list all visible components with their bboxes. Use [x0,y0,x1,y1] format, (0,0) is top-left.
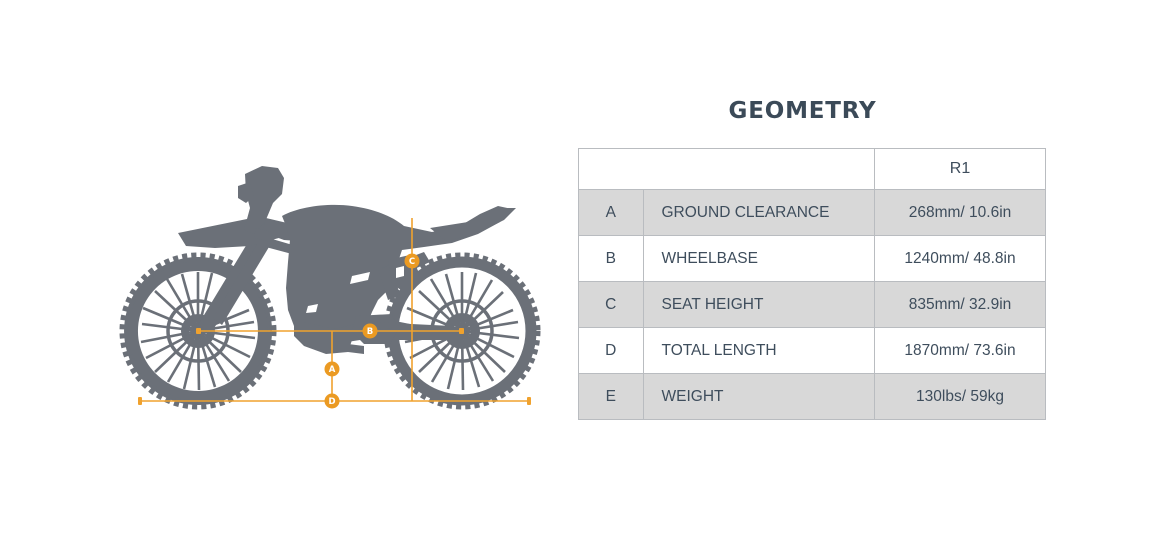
page-title: GEOMETRY [578,98,1027,124]
row-value: 1870mm/ 73.6in [875,328,1046,374]
row-value: 1240mm/ 48.8in [875,236,1046,282]
row-letter: D [579,328,644,374]
svg-text:C: C [409,257,415,267]
bike-illustration: C B A D [0,0,560,539]
row-value: 835mm/ 32.9in [875,282,1046,328]
table-header-row: R1 [579,149,1046,190]
geometry-table: R1 A GROUND CLEARANCE 268mm/ 10.6in B WH… [578,148,1046,420]
header-cell-label [643,149,875,190]
row-label: TOTAL LENGTH [643,328,875,374]
geometry-spec-page: C B A D GEOMETRY [0,0,1164,539]
row-label: SEAT HEIGHT [643,282,875,328]
svg-text:A: A [329,365,336,375]
row-label: WEIGHT [643,374,875,420]
marker-badge-A: A [325,362,340,377]
table-row: B WHEELBASE 1240mm/ 48.8in [579,236,1046,282]
row-value: 130lbs/ 59kg [875,374,1046,420]
row-letter: B [579,236,644,282]
marker-badge-B: B [363,324,378,339]
row-label: GROUND CLEARANCE [643,190,875,236]
svg-text:D: D [328,397,335,407]
svg-text:B: B [367,327,373,337]
geometry-panel: GEOMETRY R1 A GROUND CLEARANCE 268mm/ 10… [578,98,1027,420]
row-letter: C [579,282,644,328]
header-cell-model: R1 [875,149,1046,190]
marker-badge-D: D [325,394,340,409]
table-row: C SEAT HEIGHT 835mm/ 32.9in [579,282,1046,328]
table-row: E WEIGHT 130lbs/ 59kg [579,374,1046,420]
row-letter: E [579,374,644,420]
header-cell-letter [579,149,644,190]
row-letter: A [579,190,644,236]
row-label: WHEELBASE [643,236,875,282]
row-value: 268mm/ 10.6in [875,190,1046,236]
marker-badge-C: C [405,254,420,269]
table-row: D TOTAL LENGTH 1870mm/ 73.6in [579,328,1046,374]
table-row: A GROUND CLEARANCE 268mm/ 10.6in [579,190,1046,236]
